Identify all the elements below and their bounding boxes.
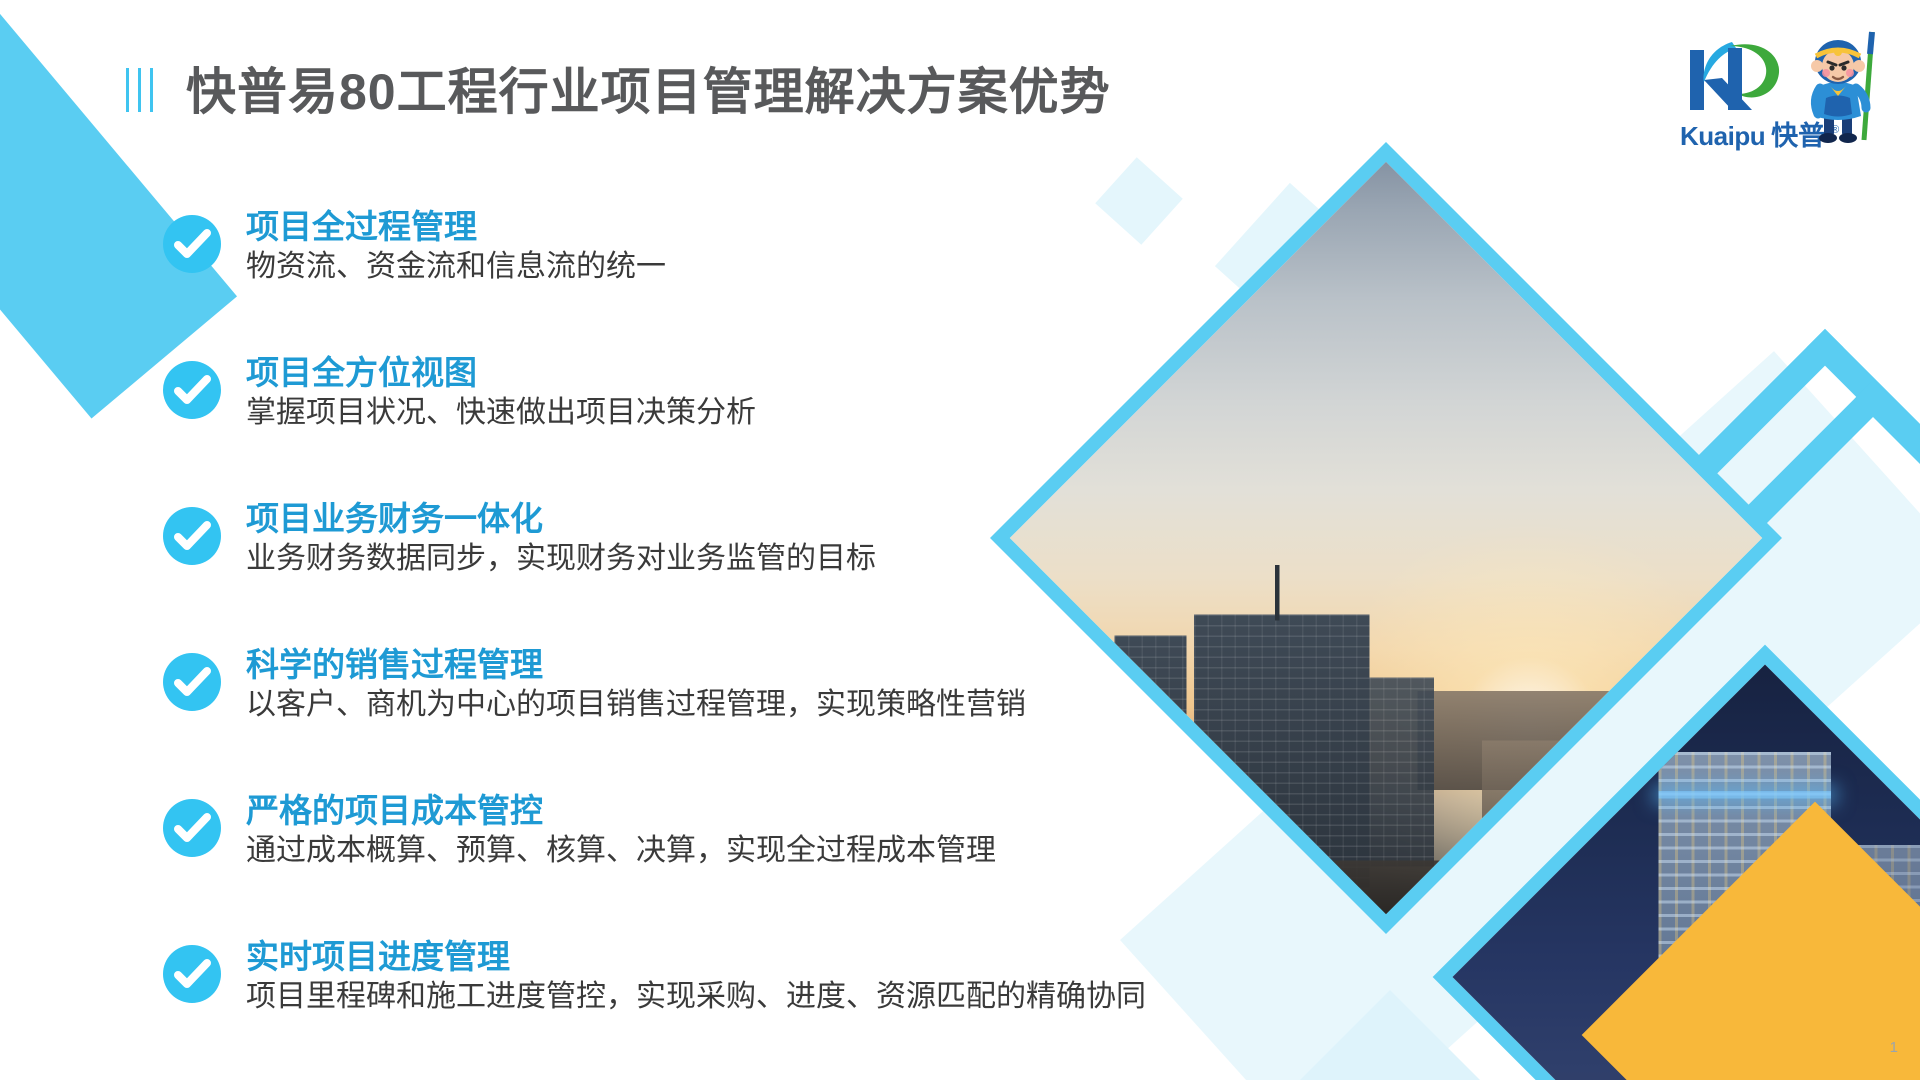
check-circle-icon [162,944,222,1004]
monkey-king-mascot-icon [1804,28,1886,151]
list-item-heading: 项目全过程管理 [246,208,1282,247]
list-item-description: 掌握项目状况、快速做出项目决策分析 [246,394,1282,432]
brand-name-en: Kuaipu [1680,121,1765,152]
slide-root: 快普易80工程行业项目管理解决方案优势 Kuaipu 快普 ® [0,0,1920,1080]
list-item[interactable]: 科学的销售过程管理 以客户、商机为中心的项目销售过程管理，实现策略性营销 [162,646,1282,736]
brand-logo[interactable]: Kuaipu 快普 ® [1680,28,1886,150]
list-item[interactable]: 项目全过程管理 物资流、资金流和信息流的统一 [162,208,1282,298]
page-title: 快普易80工程行业项目管理解决方案优势 [186,52,1111,124]
list-item-description: 物资流、资金流和信息流的统一 [246,248,1282,286]
list-item-heading: 严格的项目成本管控 [246,792,1282,831]
list-item-heading: 项目业务财务一体化 [246,500,1282,539]
list-item[interactable]: 严格的项目成本管控 通过成本概算、预算、核算、决算，实现全过程成本管理 [162,792,1282,882]
list-item[interactable]: 实时项目进度管理 项目里程碑和施工进度管控，实现采购、进度、资源匹配的精确协同 [162,938,1282,1028]
list-item[interactable]: 项目全方位视图 掌握项目状况、快速做出项目决策分析 [162,354,1282,444]
check-circle-icon [162,506,222,566]
night-tower-main [1659,752,1831,1080]
list-item-description: 通过成本概算、预算、核算、决算，实现全过程成本管理 [246,832,1282,870]
page-number: 1 [1890,1039,1898,1056]
check-circle-icon [162,360,222,420]
list-item-description: 项目里程碑和施工进度管控，实现采购、进度、资源匹配的精确协同 [246,978,1282,1016]
list-item-heading: 项目全方位视图 [246,354,1282,393]
list-item[interactable]: 项目业务财务一体化 业务财务数据同步，实现财务对业务监管的目标 [162,500,1282,590]
list-item-description: 以客户、商机为中心的项目销售过程管理，实现策略性营销 [246,686,1282,724]
kp-monogram-icon [1682,36,1802,121]
list-item-description: 业务财务数据同步，实现财务对业务监管的目标 [246,540,1282,578]
check-circle-icon [162,798,222,858]
tower-right [1370,677,1434,867]
slide-header: 快普易80工程行业项目管理解决方案优势 Kuaipu 快普 ® [0,0,1920,175]
check-circle-icon [162,652,222,712]
night-tower-crown-light [1659,791,1831,799]
night-street-light [1831,1043,1920,1054]
check-circle-icon [162,214,222,274]
title-accent-bars-icon [126,68,153,112]
advantages-list: 项目全过程管理 物资流、资金流和信息流的统一 项目全方位视图 掌握项目状况、快速… [162,208,1282,1028]
list-item-heading: 实时项目进度管理 [246,938,1282,977]
list-item-heading: 科学的销售过程管理 [246,646,1282,685]
